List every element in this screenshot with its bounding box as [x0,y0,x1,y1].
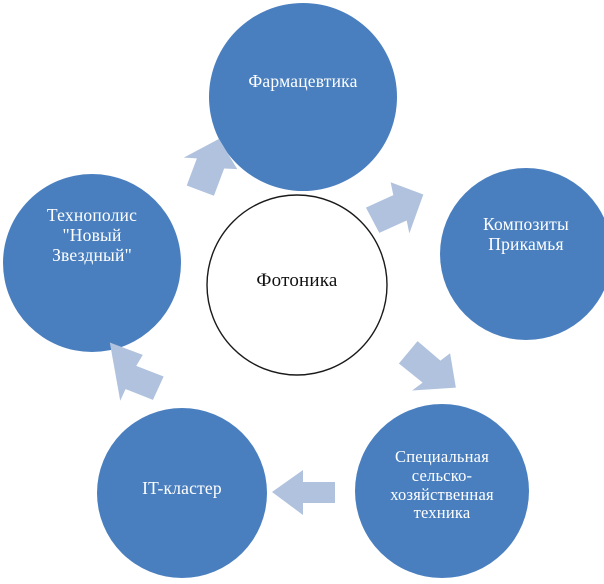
arrow-pharma-to-composites [365,181,426,236]
node-circle-it[interactable] [97,408,267,578]
node-circle-center-photonics[interactable] [207,195,387,375]
node-circle-composites[interactable] [440,168,604,340]
arrow-composites-to-agro [393,330,466,406]
node-circle-agro[interactable] [355,404,529,578]
node-circle-pharma[interactable] [209,3,397,191]
diagram-canvas [0,0,604,584]
arrow-agro-to-it [272,470,335,515]
node-circle-technopolis[interactable] [3,174,181,352]
cycle-diagram: Фармацевтика Композиты Прикамья Специаль… [0,0,604,584]
